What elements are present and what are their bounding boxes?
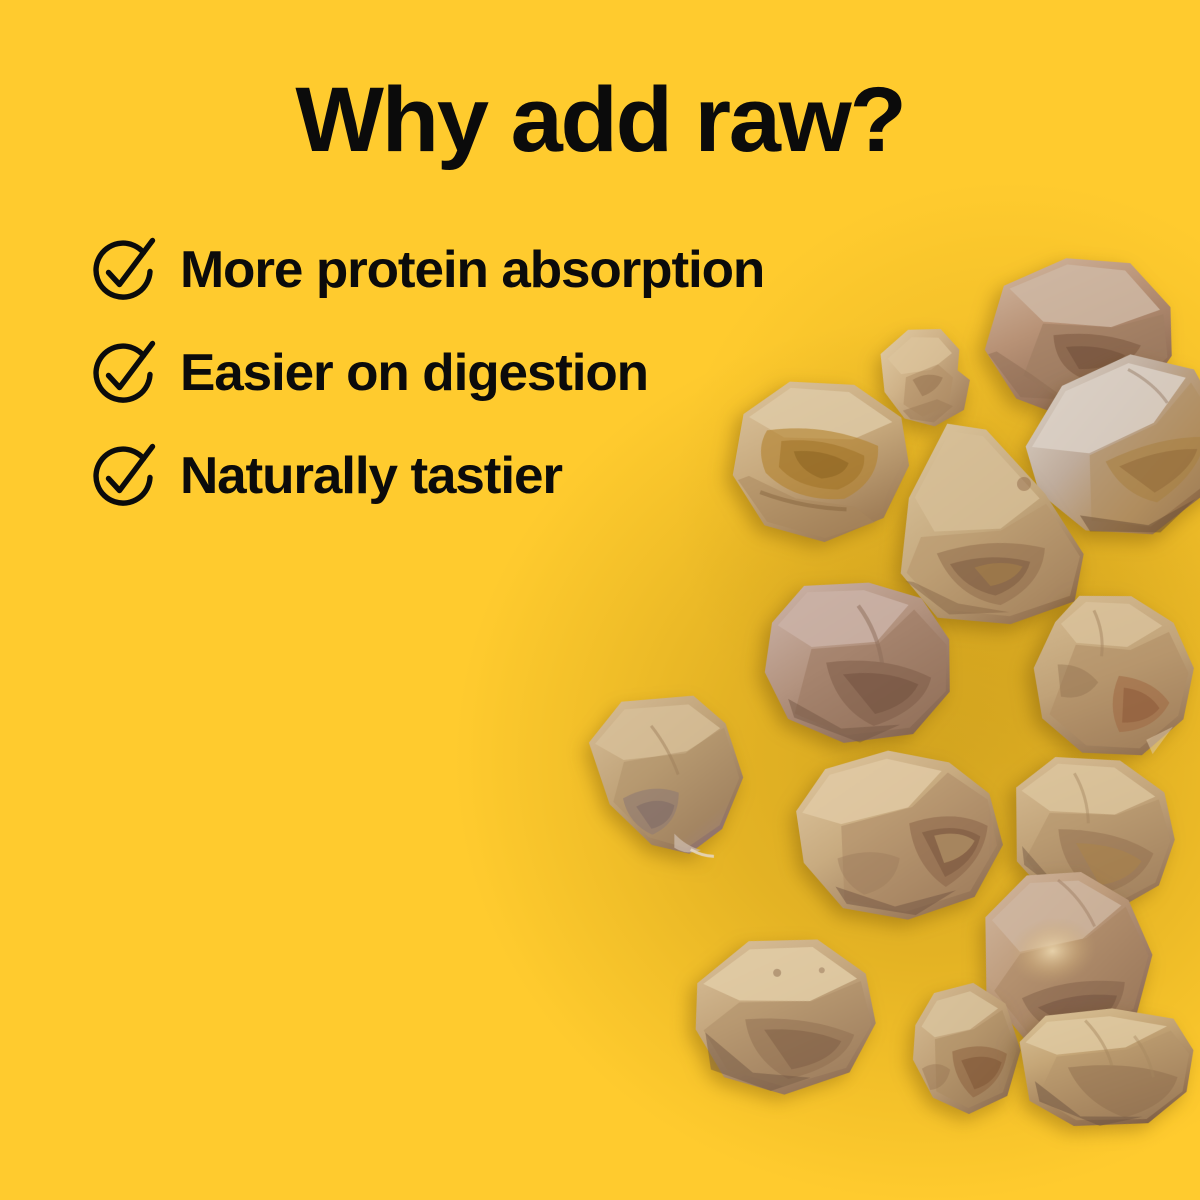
list-item-label: Easier on digestion: [180, 347, 648, 399]
food-chunk-cluster: [0, 0, 1200, 1200]
list-item-label: More protein absorption: [180, 244, 764, 296]
promo-card: Why add raw? More protein absorption Eas…: [0, 0, 1200, 1200]
benefits-list: More protein absorption Easier on digest…: [86, 222, 966, 531]
page-title: Why add raw?: [0, 74, 1200, 166]
list-item-label: Naturally tastier: [180, 450, 562, 502]
list-item: Easier on digestion: [86, 325, 966, 421]
circle-check-icon: [86, 234, 162, 310]
food-chunk-bottom-left: [674, 916, 894, 1114]
food-chunk-bottom-right: [1008, 994, 1200, 1142]
circle-check-icon: [86, 440, 162, 516]
list-item: More protein absorption: [86, 222, 966, 318]
list-item: Naturally tastier: [86, 428, 966, 524]
food-chunk-mid-mauve: [747, 568, 969, 763]
circle-check-icon: [86, 337, 162, 413]
food-chunk-far-left: [568, 673, 766, 876]
